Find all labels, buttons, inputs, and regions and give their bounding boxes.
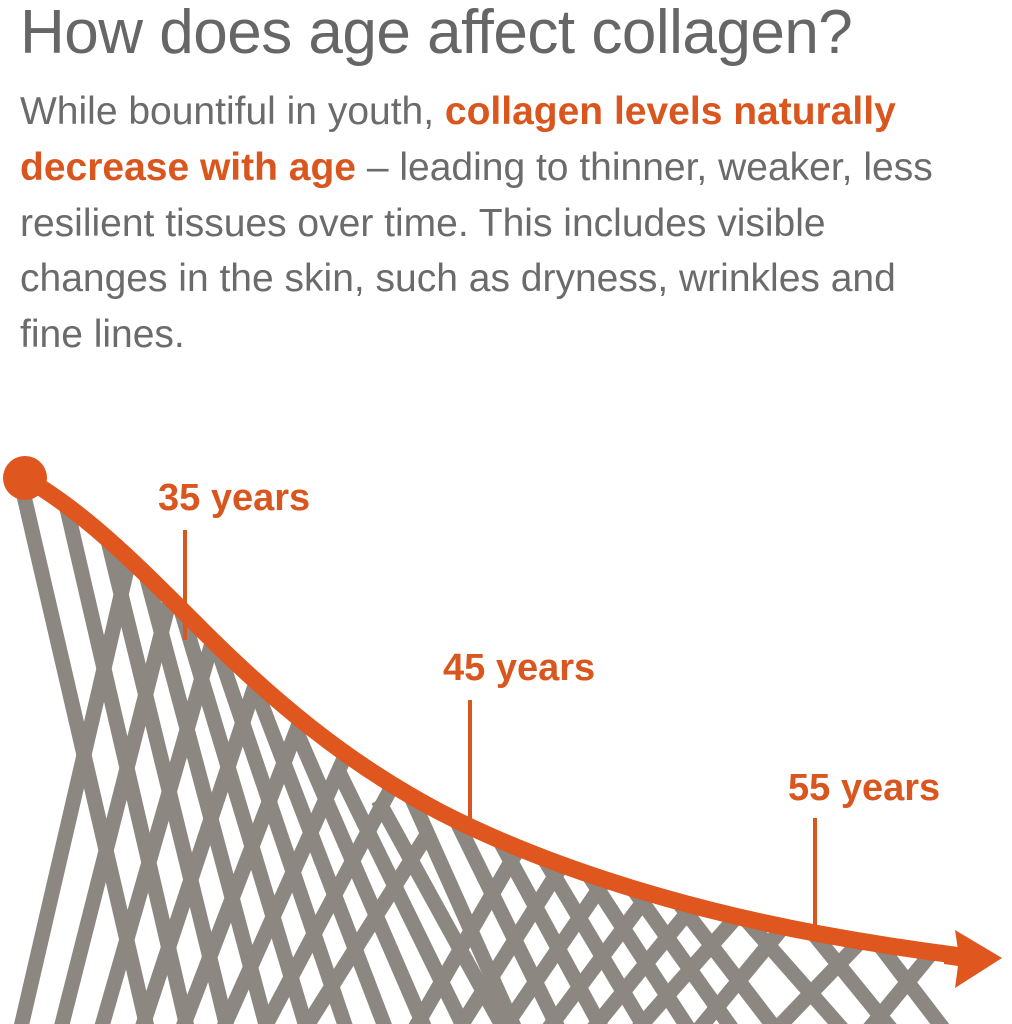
age-label-55: 55 years <box>788 767 940 809</box>
age-label-45: 45 years <box>443 647 595 689</box>
curve-start-dot <box>3 456 47 500</box>
page-title: How does age affect collagen? <box>20 0 992 64</box>
body-paragraph: While bountiful in youth, collagen level… <box>20 64 960 363</box>
collagen-age-infographic: 35 years 45 years 55 years How does age … <box>0 0 1012 1024</box>
body-segment-lead: While bountiful in youth, <box>20 90 445 133</box>
header-text-block: How does age affect collagen? While boun… <box>20 0 992 363</box>
age-label-35: 35 years <box>158 477 310 519</box>
curve-arrowhead-icon <box>944 930 1002 988</box>
